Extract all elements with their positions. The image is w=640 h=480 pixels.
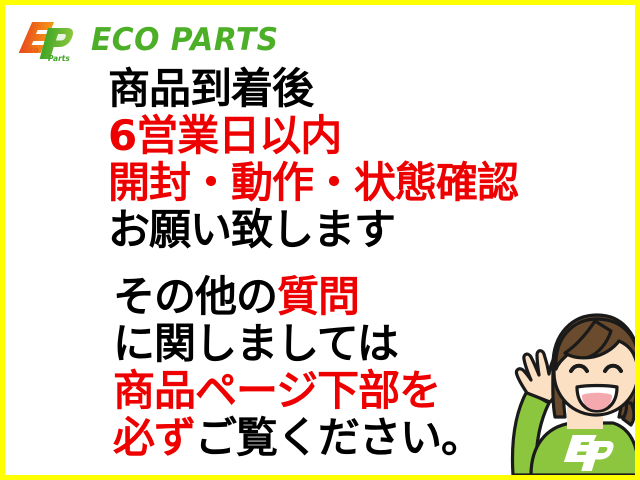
brand-header: Eco Parts ECO PARTS [19,17,286,63]
notice-line-8-emphasis: ご覧ください。 [195,413,482,462]
notice-line-8-lead: 必ず [113,413,195,462]
notice-line-2: 6営業日以内 [108,112,538,159]
brand-wordmark: ECO PARTS [91,25,279,56]
notice-line-5-lead: その他の [113,272,277,321]
notice-line-3: 開封・動作・状態確認 [108,159,538,206]
notice-line-1: 商品到着後 [108,65,538,112]
notice-banner: Eco Parts ECO PARTS 商品到着後 6営業日以内 開封・動作・状… [0,0,640,480]
notice-line-5-emphasis: 質問 [277,272,359,321]
notice-line-4: お願い致します [108,206,538,253]
ep-monogram-logo-icon: Eco Parts [19,17,81,63]
svg-text:Eco: Eco [24,46,39,55]
waving-woman-mascot-icon [453,307,640,480]
notice-block-primary: 商品到着後 6営業日以内 開封・動作・状態確認 お願い致します [108,65,538,253]
svg-text:Parts: Parts [48,54,70,63]
